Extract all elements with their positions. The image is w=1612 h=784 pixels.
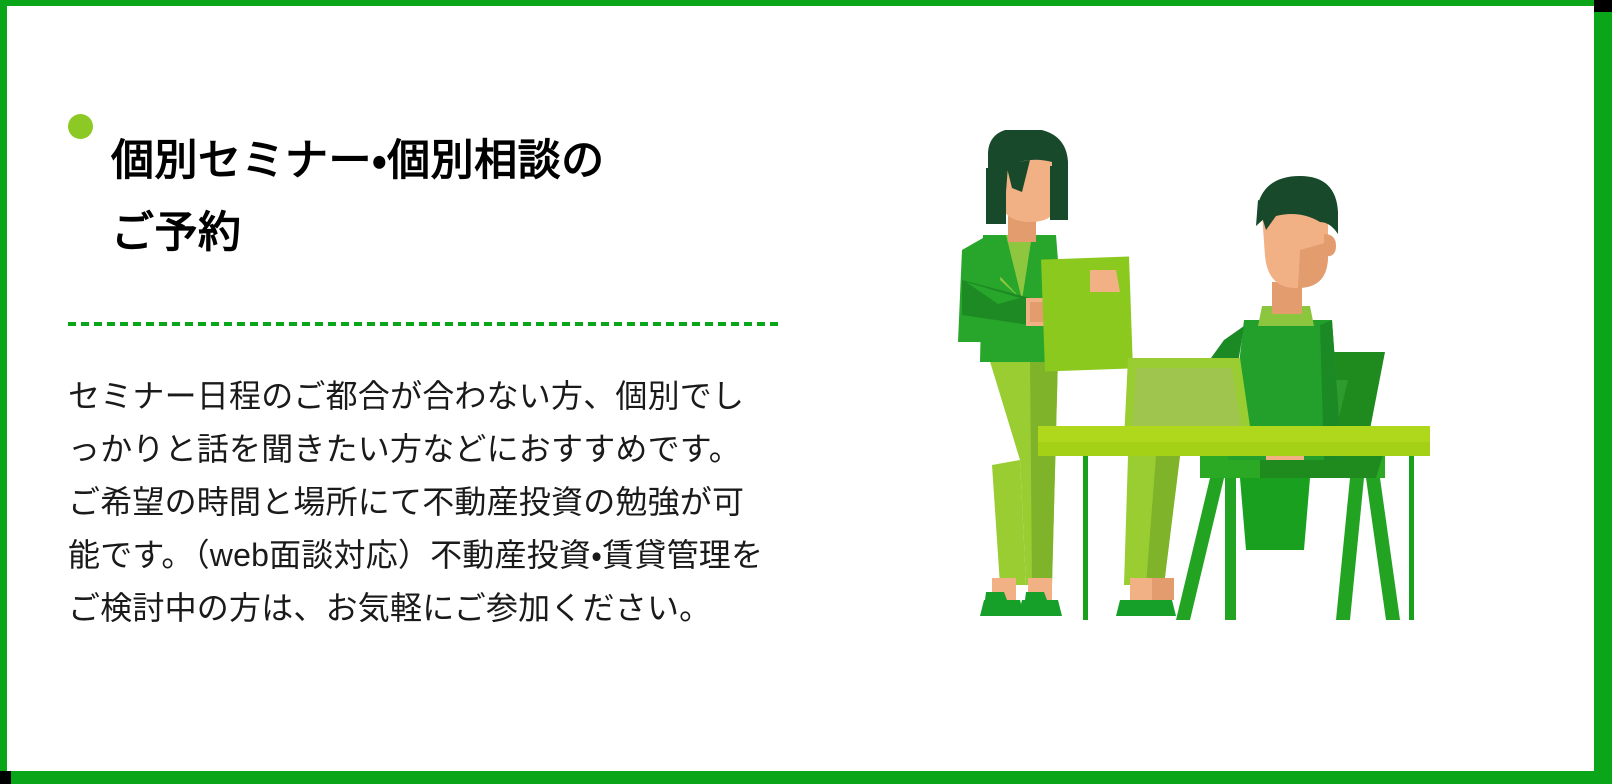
standing-woman	[958, 130, 1133, 616]
top-right-corner-marker	[1594, 0, 1612, 12]
left-border	[0, 0, 7, 775]
bottom-left-corner-marker	[0, 771, 11, 784]
section-heading-row: 個別セミナー・個別相談の ご予約	[68, 96, 798, 298]
top-border	[0, 0, 1612, 6]
dashed-divider	[68, 322, 780, 326]
right-border	[1594, 0, 1612, 784]
text-column: 個別セミナー・個別相談の ご予約 セミナー日程のご都合が合わない方、個別でしっか…	[68, 96, 798, 667]
woman-front-leg	[1116, 456, 1180, 616]
page-title: 個別セミナー・個別相談の ご予約	[111, 125, 605, 269]
bottom-border	[11, 771, 1612, 784]
section-description: セミナー日程のご都合が合わない方、個別でしっかりと話を聞きたい方などにおすすめで…	[68, 370, 768, 635]
bullet-dot-icon	[68, 114, 93, 139]
consultation-illustration	[880, 130, 1440, 620]
page-root: 個別セミナー・個別相談の ご予約 セミナー日程のご都合が合わない方、個別でしっか…	[0, 0, 1612, 784]
